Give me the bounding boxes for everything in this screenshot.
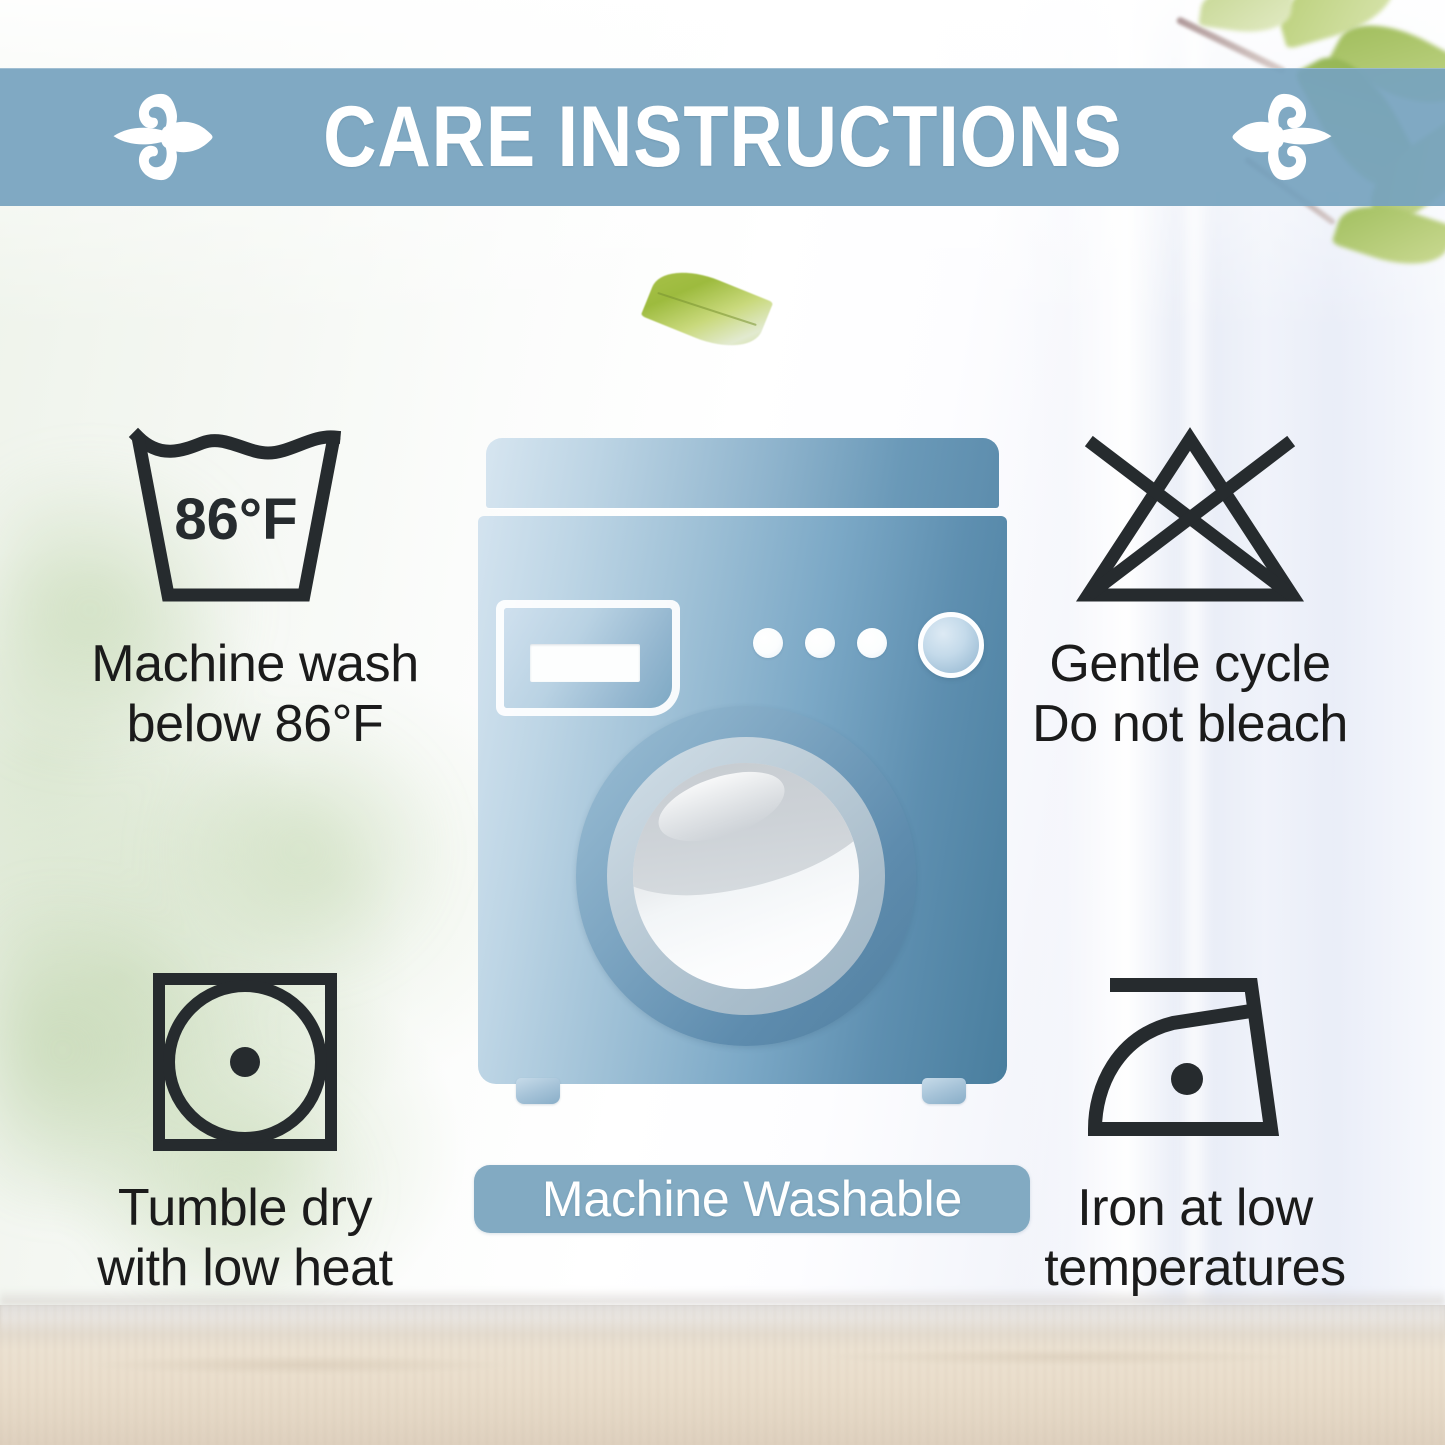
caption-line-1: Machine wash: [91, 635, 419, 693]
care-item-iron: Iron at low temperatures: [980, 962, 1410, 1299]
washer-door: [576, 706, 916, 1046]
care-item-gentle-cycle: Gentle cycle Do not bleach: [975, 418, 1405, 755]
caption-tumble-dry: Tumble dry with low heat: [97, 1178, 392, 1299]
page-title: CARE INSTRUCTIONS: [323, 94, 1122, 180]
machine-wash-icon-wrap: 86°F: [120, 418, 390, 618]
caption-line-2: with low heat: [97, 1238, 392, 1298]
indicator-light-1: [753, 628, 783, 658]
wash-temperature-label: 86°F: [174, 487, 297, 552]
tumble-dry-low-heat-icon: [145, 967, 345, 1157]
caption-gentle-cycle: Gentle cycle Do not bleach: [1032, 634, 1348, 755]
washer-door-ring: [607, 737, 885, 1015]
caption-line-1: Gentle cycle: [1049, 635, 1330, 693]
wood-grain-texture: [0, 1305, 1445, 1445]
caption-iron: Iron at low temperatures: [1044, 1178, 1346, 1299]
indicator-light-3: [857, 628, 887, 658]
control-knob: [918, 612, 984, 678]
no-bleach-icon-wrap: [1060, 418, 1320, 618]
caption-line-2: Do not bleach: [1032, 694, 1348, 754]
wash-tub-icon: 86°F: [120, 423, 390, 613]
washer-foot-left: [516, 1078, 560, 1104]
caption-line-2: below 86°F: [91, 694, 419, 754]
caption-line-1: Iron at low: [1077, 1179, 1313, 1237]
washer-door-glass: [633, 763, 859, 989]
status-badge-label: Machine Washable: [542, 1174, 962, 1224]
crossed-triangle-no-bleach-icon: [1060, 423, 1320, 613]
care-instructions-poster: CARE INSTRUCTIONS 86°F Machine wash belo…: [0, 0, 1445, 1445]
caption-machine-wash: Machine wash below 86°F: [91, 634, 419, 755]
washer-body: [478, 516, 1007, 1084]
caption-line-2: temperatures: [1044, 1238, 1346, 1298]
iron-low-temperature-icon: [1075, 967, 1315, 1157]
washer-foot-right: [922, 1078, 966, 1104]
care-item-machine-wash: 86°F Machine wash below 86°F: [40, 418, 470, 755]
tumble-dry-icon-wrap: [145, 962, 345, 1162]
detergent-drawer-slot: [530, 644, 640, 682]
iron-icon-wrap: [1075, 962, 1315, 1162]
fleur-de-lis-icon-left: [108, 85, 218, 189]
indicator-light-2: [805, 628, 835, 658]
fleur-de-lis-icon-right: [1227, 85, 1337, 189]
status-badge: Machine Washable: [474, 1165, 1030, 1233]
washing-machine-illustration: [470, 438, 1015, 1128]
header-banner: CARE INSTRUCTIONS: [0, 68, 1445, 206]
washer-top-lid: [486, 438, 999, 508]
detergent-drawer: [504, 608, 672, 708]
care-item-tumble-dry: Tumble dry with low heat: [30, 962, 460, 1299]
caption-line-1: Tumble dry: [118, 1179, 372, 1237]
control-indicator-lights: [753, 628, 887, 658]
